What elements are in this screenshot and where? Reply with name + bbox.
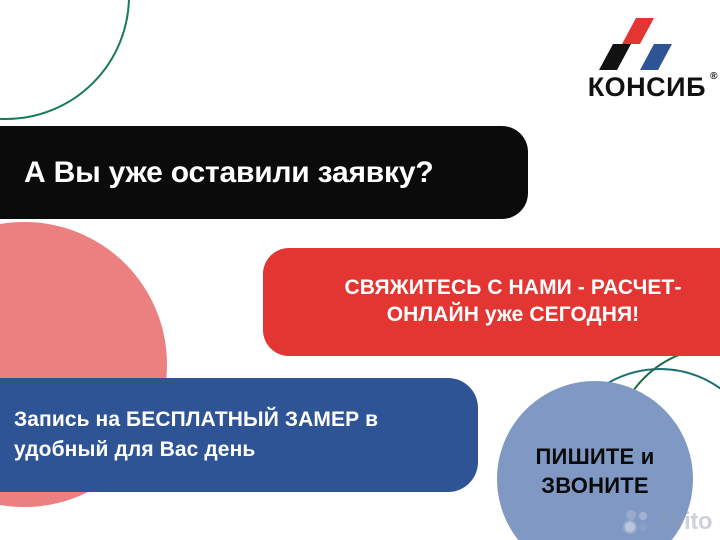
logo-wordmark: КОНСИБ ® [588,74,706,101]
brand-logo: КОНСИБ ® [570,18,706,101]
registered-trademark-icon: ® [710,72,718,82]
booking-banner: Запись на БЕСПЛАТНЫЙ ЗАМЕР в удобный для… [0,378,478,492]
promo-banner-canvas: КОНСИБ ® А Вы уже оставили заявку? СВЯЖИ… [0,0,720,540]
avito-watermark: Avito [623,508,712,536]
logo-mark-icon [570,18,706,72]
avito-watermark-text: Avito [655,508,712,536]
booking-banner-text: Запись на БЕСПЛАТНЫЙ ЗАМЕР в удобный для… [0,405,478,466]
contact-banner-text: СВЯЖИТЕСЬ С НАМИ - РАСЧЕТ-ОНЛАЙН уже СЕГ… [313,275,713,329]
avito-logo-icon [623,509,653,535]
decorative-ring-top-left-icon [0,0,130,120]
logo-brand-name: КОНСИБ [588,72,706,102]
question-banner-text: А Вы уже оставили заявку? [0,156,433,190]
question-banner: А Вы уже оставили заявку? [0,126,528,219]
callout-badge-text: ПИШИТЕ и ЗВОНИТЕ [497,443,693,500]
contact-banner: СВЯЖИТЕСЬ С НАМИ - РАСЧЕТ-ОНЛАЙН уже СЕГ… [263,248,720,356]
